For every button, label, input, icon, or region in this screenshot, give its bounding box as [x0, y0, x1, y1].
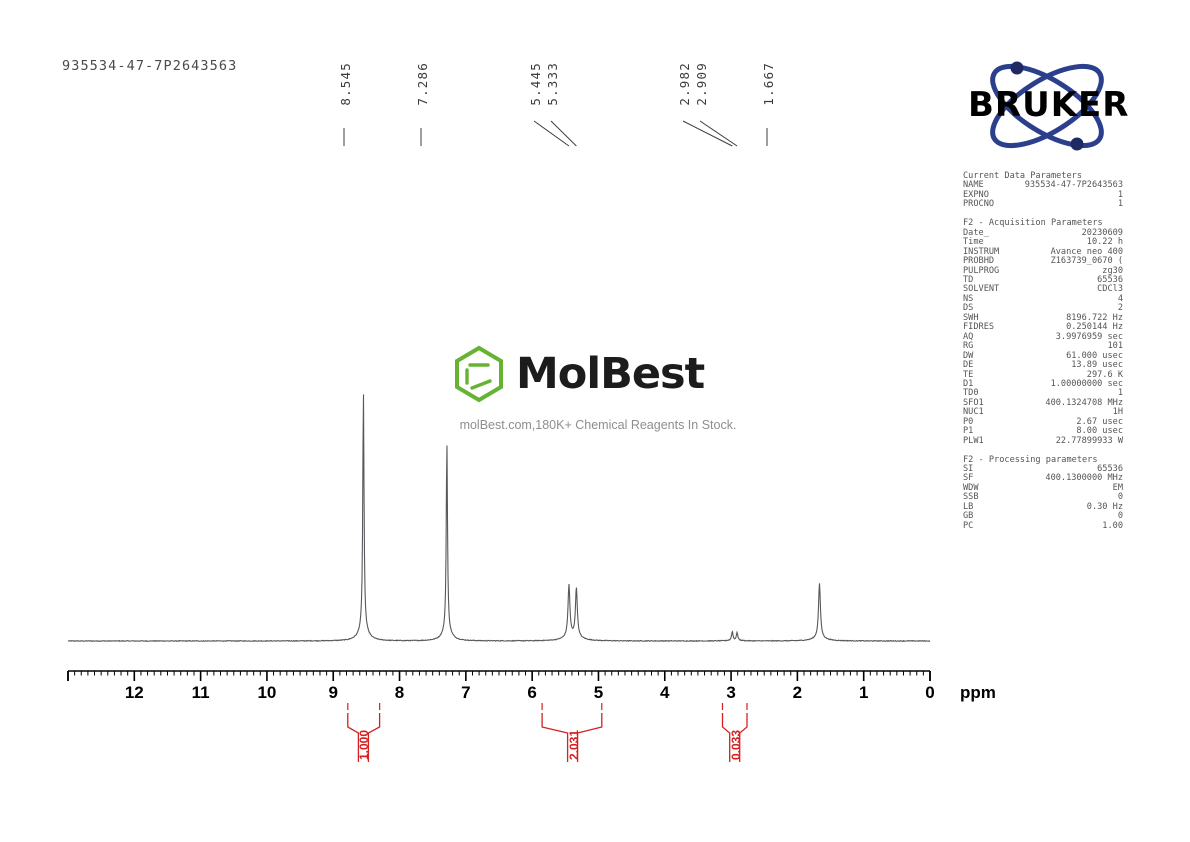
parameter-row: PC1.00 [963, 522, 1123, 531]
acquisition-parameter-block: Current Data ParametersNAME935534-47-7P2… [963, 172, 1123, 531]
parameter-value: 935534-47-7P2643563 [1025, 181, 1123, 190]
integral-value-label: 1.000 [357, 730, 371, 760]
parameter-value: 1.00 [1102, 522, 1123, 531]
parameter-row: WDWEM [963, 484, 1123, 493]
parameter-row: AQ3.9976959 sec [963, 333, 1123, 342]
watermark-tagline: molBest.com,180K+ Chemical Reagents In S… [448, 418, 748, 432]
hexagon-icon [448, 343, 510, 405]
parameter-row: SFO1400.1324708 MHz [963, 399, 1123, 408]
parameter-row: LB0.30 Hz [963, 503, 1123, 512]
parameter-row: PLW122.77899933 W [963, 437, 1123, 446]
integral-value-label: 2.031 [567, 730, 581, 760]
parameter-row: GB0 [963, 512, 1123, 521]
parameter-key: PROCNO [963, 200, 994, 209]
parameter-row: NS4 [963, 295, 1123, 304]
parameter-key: PLW1 [963, 437, 984, 446]
parameter-row: D11.00000000 sec [963, 380, 1123, 389]
parameter-value: 22.77899933 W [1056, 437, 1123, 446]
parameter-value: 1.00000000 sec [1051, 380, 1123, 389]
parameter-value: 400.1300000 MHz [1045, 474, 1123, 483]
watermark-logo-row: MolBest [448, 343, 748, 405]
parameter-row: SOLVENTCDCl3 [963, 285, 1123, 294]
integral-value-label: 0.033 [729, 730, 743, 760]
molbest-watermark: MolBest molBest.com,180K+ Chemical Reage… [448, 343, 748, 432]
parameter-key: PC [963, 522, 973, 531]
parameter-row: SF400.1300000 MHz [963, 474, 1123, 483]
parameter-value: 1 [1118, 200, 1123, 209]
watermark-wordmark: MolBest [516, 353, 704, 396]
bruker-wordmark: BRUKER [968, 88, 1129, 122]
parameter-value: 400.1324708 MHz [1045, 399, 1123, 408]
parameter-row: PROCNO1 [963, 200, 1123, 209]
nmr-spectrum-page: 935534-47-7P2643563 8.5457.2865.4455.333… [0, 0, 1190, 842]
